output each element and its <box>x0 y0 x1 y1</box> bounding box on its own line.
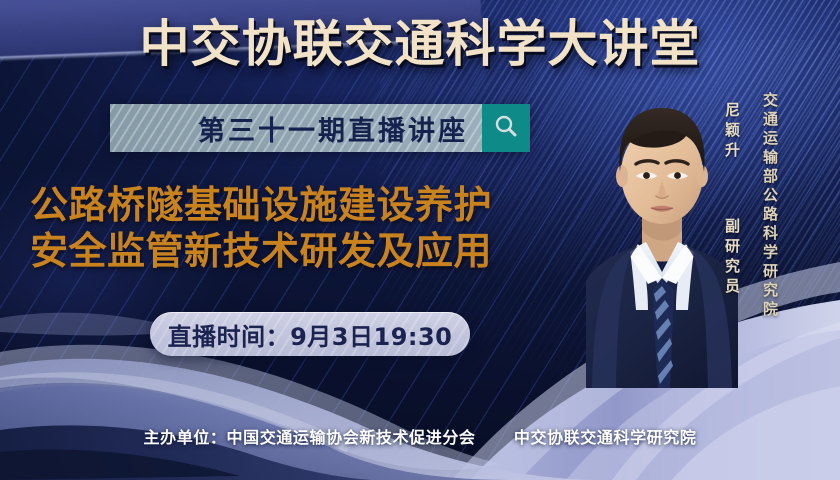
episode-label: 第三十一期直播讲座 <box>198 109 468 148</box>
lecture-headline: 公路桥隧基础设施建设养护 安全监管新技术研发及应用 <box>30 182 590 274</box>
episode-bar-fill: 第三十一期直播讲座 <box>110 104 482 152</box>
headline-line-1: 公路桥隧基础设施建设养护 <box>30 182 590 228</box>
footer-co-organizer: 中交协联交通科学研究院 <box>514 428 697 447</box>
live-stream-poster: 中交协联交通科学大讲堂 第三十一期直播讲座 公路桥隧基础设施建设养护 安全监管新… <box>0 0 840 480</box>
episode-bar: 第三十一期直播讲座 <box>110 104 530 152</box>
broadcast-time-label: 直播时间：9月3日19:30 <box>168 317 453 352</box>
search-icon <box>493 113 519 144</box>
speaker-organization: 交通运输部公路科学研究院 <box>760 92 781 320</box>
page-title: 中交协联交通科学大讲堂 <box>0 14 840 74</box>
footer: 主办单位：中国交通运输协会新技术促进分会 中交协联交通科学研究院 <box>0 424 840 448</box>
search-button[interactable] <box>482 104 530 152</box>
footer-organizer: 主办单位：中国交通运输协会新技术促进分会 <box>144 428 476 447</box>
speaker-name: 尼颖升 <box>723 102 741 162</box>
speaker-portrait <box>586 88 738 388</box>
speaker-name-block: 尼颖升 副研究员 <box>722 102 743 298</box>
speaker-title: 副研究员 <box>723 218 741 298</box>
headline-line-2: 安全监管新技术研发及应用 <box>30 228 590 274</box>
broadcast-time-badge: 直播时间：9月3日19:30 <box>150 312 470 356</box>
